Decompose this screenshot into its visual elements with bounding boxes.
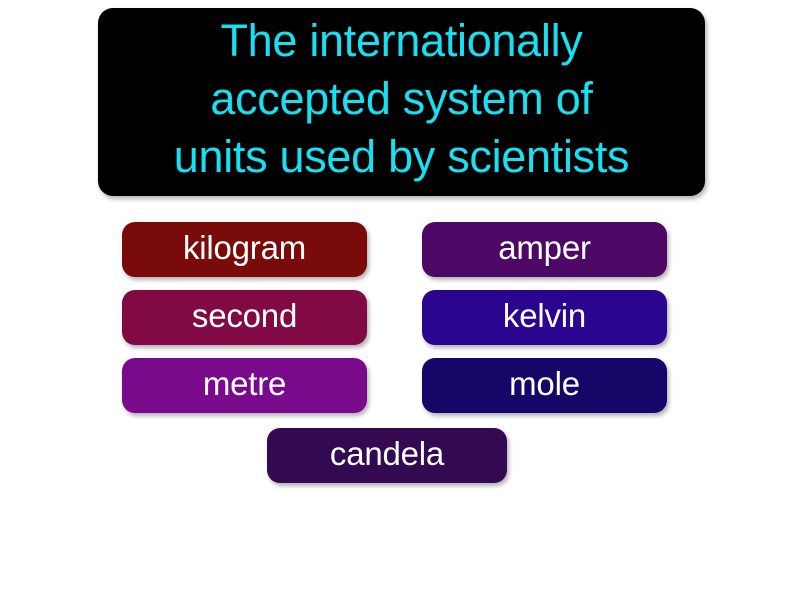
definition-banner: The internationally accepted system of u… (98, 8, 705, 196)
term-label: kilogram (183, 231, 306, 265)
term-label: mole (509, 367, 580, 401)
term-label: kelvin (503, 299, 586, 333)
definition-text: The internationally accepted system of u… (174, 12, 630, 186)
term-button-metre[interactable]: metre (122, 358, 367, 413)
term-button-second[interactable]: second (122, 290, 367, 345)
term-button-amper[interactable]: amper (422, 222, 667, 277)
term-button-candela[interactable]: candela (267, 428, 507, 483)
term-label: metre (203, 367, 286, 401)
definition-card: The internationally accepted system of u… (0, 0, 800, 600)
term-button-kilogram[interactable]: kilogram (122, 222, 367, 277)
term-button-mole[interactable]: mole (422, 358, 667, 413)
term-label: amper (498, 231, 591, 265)
term-label: second (192, 299, 297, 333)
term-button-kelvin[interactable]: kelvin (422, 290, 667, 345)
term-label: candela (330, 437, 444, 471)
